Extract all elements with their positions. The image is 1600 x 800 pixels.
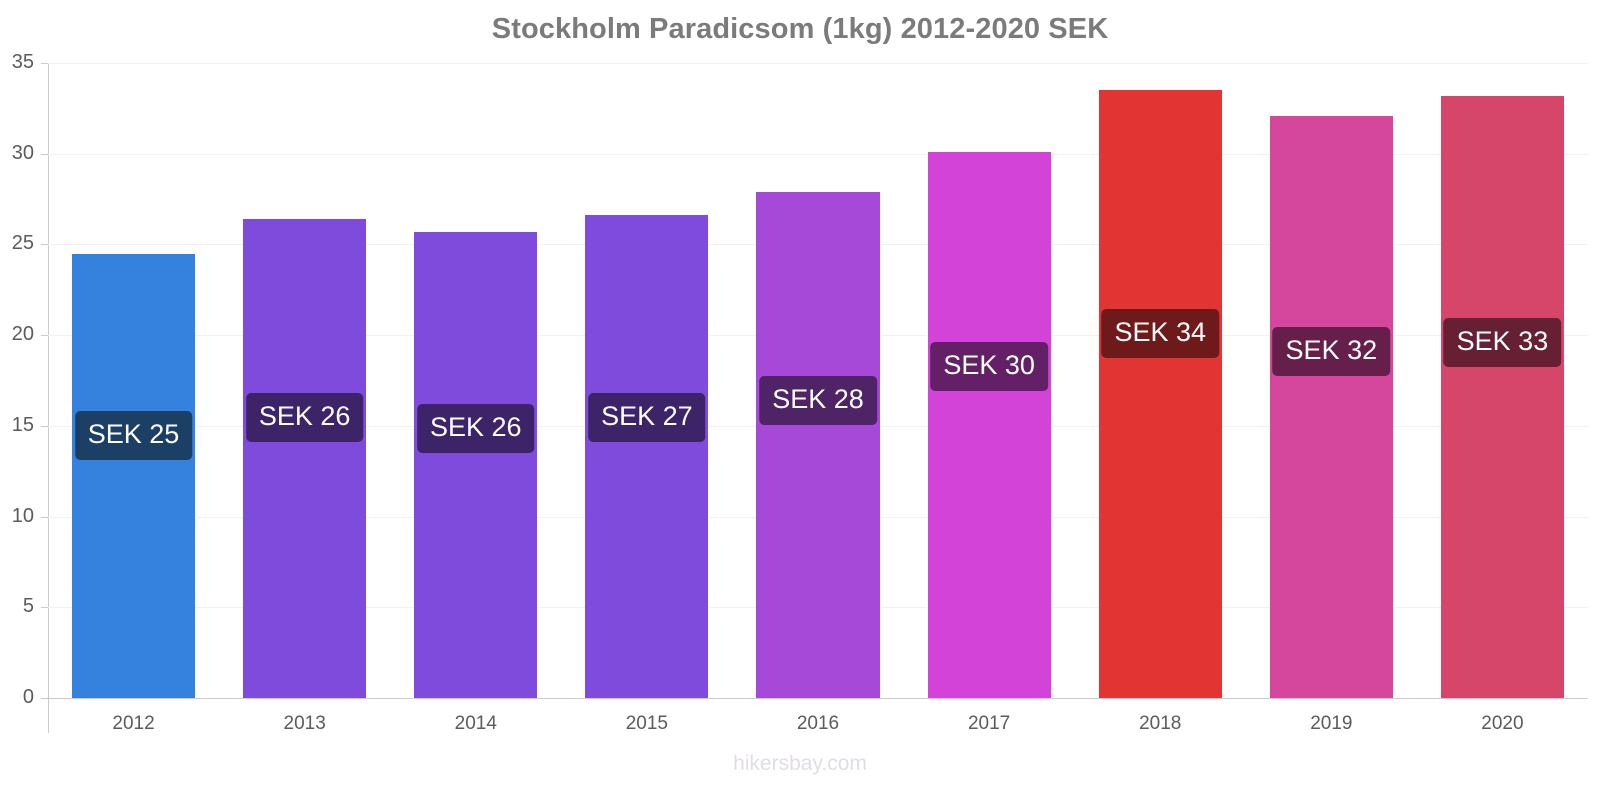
bar-2020[interactable] [1441,96,1564,698]
y-tick-mark-0 [41,698,48,699]
x-tick-label-2016: 2016 [797,713,839,735]
x-tick-label-2013: 2013 [284,713,326,735]
bar-2012[interactable] [72,254,195,699]
chart-title: Stockholm Paradicsom (1kg) 2012-2020 SEK [0,13,1600,46]
y-tick-mark-25 [41,244,48,245]
bar-2016[interactable] [756,192,879,698]
bar-2018[interactable] [1099,90,1222,698]
x-tick-label-2017: 2017 [968,713,1010,735]
x-tick-label-2014: 2014 [455,713,497,735]
bar-2013[interactable] [243,219,366,698]
x-tick-label-2020: 2020 [1481,713,1523,735]
bar-value-label-2015: SEK 27 [588,393,706,442]
bar-2014[interactable] [414,232,537,698]
y-tick-label-20: 20 [0,323,34,346]
gridline-35 [48,63,1588,64]
y-tick-mark-30 [41,154,48,155]
y-tick-label-30: 30 [0,142,34,165]
bar-chart: Stockholm Paradicsom (1kg) 2012-2020 SEK… [0,0,1600,800]
gridline-0 [48,698,1588,699]
y-axis-line [48,63,49,711]
y-tick-label-10: 10 [0,505,34,528]
bar-value-label-2019: SEK 32 [1273,327,1391,376]
bar-value-label-2018: SEK 34 [1101,309,1219,358]
x-tick-label-2018: 2018 [1139,713,1181,735]
bar-2019[interactable] [1270,116,1393,698]
y-tick-mark-15 [41,426,48,427]
bar-value-label-2012: SEK 25 [75,411,193,460]
bar-value-label-2016: SEK 28 [759,376,877,425]
y-tick-label-35: 35 [0,51,34,74]
x-axis-origin-tick [48,711,49,733]
y-tick-mark-5 [41,607,48,608]
x-tick-label-2015: 2015 [626,713,668,735]
footer-credit: hikersbay.com [0,752,1600,776]
bar-value-label-2020: SEK 33 [1444,318,1562,367]
bar-2017[interactable] [928,152,1051,698]
y-tick-mark-20 [41,335,48,336]
y-tick-mark-35 [41,63,48,64]
y-tick-label-5: 5 [0,595,34,618]
y-tick-label-0: 0 [0,686,34,709]
y-tick-label-25: 25 [0,232,34,255]
bar-2015[interactable] [585,215,708,698]
y-tick-mark-10 [41,517,48,518]
bar-value-label-2014: SEK 26 [417,404,535,453]
bar-value-label-2013: SEK 26 [246,393,364,442]
x-tick-label-2012: 2012 [112,713,154,735]
x-tick-label-2019: 2019 [1310,713,1352,735]
y-tick-label-15: 15 [0,414,34,437]
bar-value-label-2017: SEK 30 [930,342,1048,391]
